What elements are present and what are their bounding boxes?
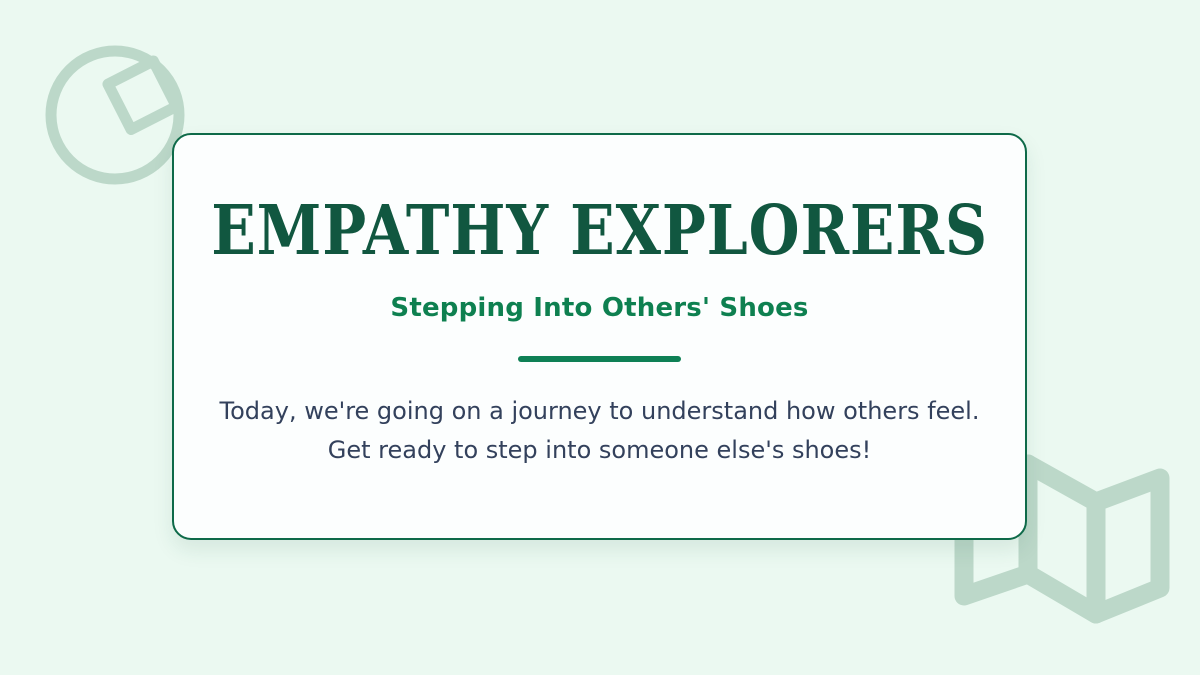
page-subtitle: Stepping Into Others' Shoes: [390, 293, 808, 324]
divider: [518, 356, 681, 362]
content-card: EMPATHY EXPLORERS Stepping Into Others' …: [172, 133, 1027, 540]
compass-icon: [39, 39, 191, 191]
page-title: EMPATHY EXPLORERS: [211, 197, 988, 265]
body-text: Today, we're going on a journey to under…: [220, 392, 980, 470]
slide-canvas: EMPATHY EXPLORERS Stepping Into Others' …: [0, 0, 1200, 675]
body-line-2: Get ready to step into someone else's sh…: [220, 431, 980, 470]
body-line-1: Today, we're going on a journey to under…: [220, 392, 980, 431]
